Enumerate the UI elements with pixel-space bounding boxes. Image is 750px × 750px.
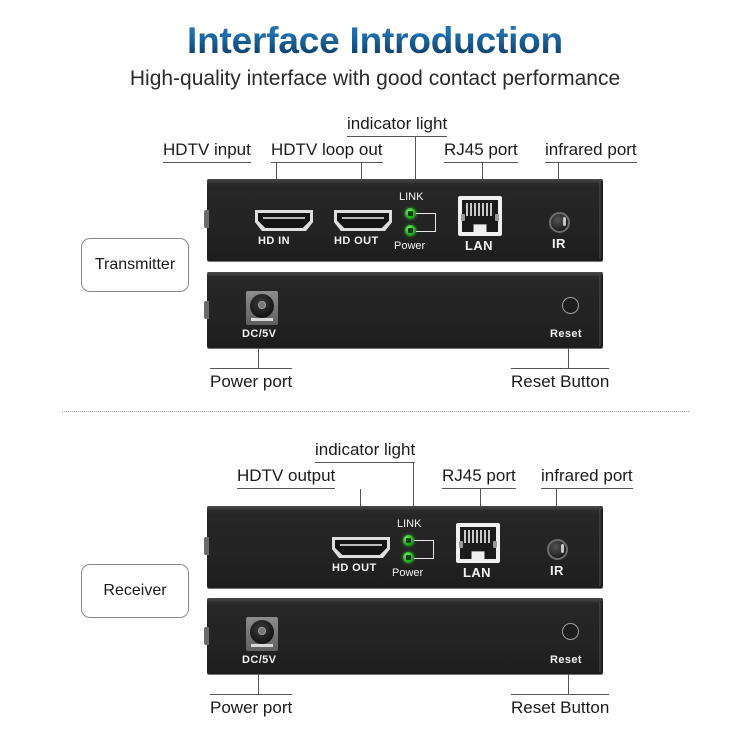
- chassis-side-tab: [204, 627, 209, 645]
- power-led-icon: [405, 225, 416, 236]
- hdmi-in-port[interactable]: [255, 210, 313, 231]
- chassis-top-bevel: [207, 598, 603, 602]
- reset-button[interactable]: [562, 297, 579, 314]
- chassis-top-bevel: [207, 179, 603, 183]
- hdmi-out-contact-bar: [342, 217, 384, 219]
- hdmi-out-port[interactable]: [332, 537, 390, 558]
- rj45-clip-right: [493, 541, 497, 548]
- callout-hdtv-output: HDTV output: [237, 466, 335, 489]
- led-link-label: LINK: [397, 518, 421, 530]
- ir-label: IR: [550, 563, 564, 578]
- led-link-label: LINK: [399, 191, 423, 203]
- dc-power-label: DC/5V: [242, 328, 276, 340]
- role-box-receiver: Receiver: [81, 564, 189, 618]
- ir-port[interactable]: [547, 539, 568, 560]
- led-bracket: [414, 540, 434, 559]
- dc-slot: [251, 644, 273, 647]
- chassis-top-bevel: [207, 506, 603, 510]
- callout-power-port-rx: Power port: [210, 694, 292, 718]
- chassis-side-tab: [204, 210, 209, 228]
- callout-hdtv-input: HDTV input: [163, 140, 251, 163]
- role-label-transmitter: Transmitter: [95, 256, 175, 274]
- dc-slot: [251, 318, 273, 321]
- led-bracket: [416, 213, 436, 232]
- callout-infrared-port: infrared port: [545, 140, 637, 163]
- dc-power-label: DC/5V: [242, 654, 276, 666]
- transmitter-rear-panel: DC/5V Reset: [207, 272, 603, 348]
- lan-label: LAN: [463, 565, 491, 580]
- callout-hdtv-loop-out: HDTV loop out: [271, 140, 383, 163]
- rj45-lan-port[interactable]: [458, 196, 502, 236]
- page-title: Interface Introduction: [0, 20, 750, 62]
- interface-introduction-diagram: Interface Introduction High-quality inte…: [0, 0, 750, 750]
- leader-reset-button: [568, 348, 569, 368]
- reset-label: Reset: [550, 654, 582, 666]
- ir-port[interactable]: [549, 212, 570, 233]
- hdmi-out-label: HD OUT: [332, 562, 377, 574]
- callout-indicator-light-rx: indicator light: [315, 440, 415, 463]
- callout-infrared-port-rx: infrared port: [541, 466, 633, 489]
- hdmi-in-cavity: [258, 213, 310, 228]
- callout-power-port: Power port: [210, 368, 292, 392]
- chassis-right-edge: [599, 182, 603, 259]
- chassis-right-edge: [599, 509, 603, 586]
- power-led-icon: [403, 552, 414, 563]
- hdmi-out-cavity: [335, 540, 387, 555]
- callout-rj45-port-rx: RJ45 port: [442, 466, 516, 489]
- chassis-side-tab: [204, 537, 209, 555]
- rj45-clip-right: [495, 214, 499, 221]
- hdmi-in-contact-bar: [263, 217, 305, 219]
- reset-button[interactable]: [562, 623, 579, 640]
- led-power-label: Power: [392, 567, 423, 579]
- hdmi-out-label: HD OUT: [334, 235, 379, 247]
- section-divider: [62, 411, 689, 412]
- dc-center-pin: [258, 627, 266, 635]
- callout-rj45-port: RJ45 port: [444, 140, 518, 163]
- reset-label: Reset: [550, 328, 582, 340]
- dc-power-port[interactable]: [246, 617, 278, 651]
- rj45-clip-left: [459, 541, 463, 548]
- dc-power-port[interactable]: [246, 291, 278, 325]
- leader-power-port-rx: [258, 674, 259, 694]
- lan-label: LAN: [465, 238, 493, 253]
- rj45-clip-left: [461, 214, 465, 221]
- role-label-receiver: Receiver: [103, 582, 166, 600]
- ir-label: IR: [552, 236, 566, 251]
- rj45-pins: [466, 203, 494, 216]
- chassis-top-bevel: [207, 272, 603, 276]
- hdmi-out-cavity: [337, 213, 389, 228]
- hdmi-out-port[interactable]: [334, 210, 392, 231]
- chassis-side-tab: [204, 301, 209, 319]
- page-subtitle: High-quality interface with good contact…: [0, 67, 750, 91]
- callout-reset-button-rx: Reset Button: [511, 694, 609, 718]
- link-led-icon: [403, 535, 414, 546]
- link-led-icon: [405, 208, 416, 219]
- rj45-pins: [464, 530, 492, 543]
- leader-reset-button-rx: [568, 674, 569, 694]
- dc-center-pin: [258, 301, 266, 309]
- led-power-label: Power: [394, 240, 425, 252]
- role-box-transmitter: Transmitter: [81, 238, 189, 292]
- receiver-front-panel: HD OUT LINK Power LAN IR: [207, 506, 603, 588]
- transmitter-front-panel: HD IN HD OUT LINK Power LAN IR: [207, 179, 603, 261]
- hdmi-out-contact-bar: [340, 544, 382, 546]
- callout-reset-button: Reset Button: [511, 368, 609, 392]
- rj45-lan-port[interactable]: [456, 523, 500, 563]
- chassis-right-edge: [599, 601, 603, 672]
- callout-indicator-light: indicator light: [347, 114, 447, 137]
- receiver-rear-panel: DC/5V Reset: [207, 598, 603, 674]
- leader-power-port: [258, 348, 259, 368]
- chassis-right-edge: [599, 275, 603, 346]
- hdmi-in-label: HD IN: [258, 235, 290, 247]
